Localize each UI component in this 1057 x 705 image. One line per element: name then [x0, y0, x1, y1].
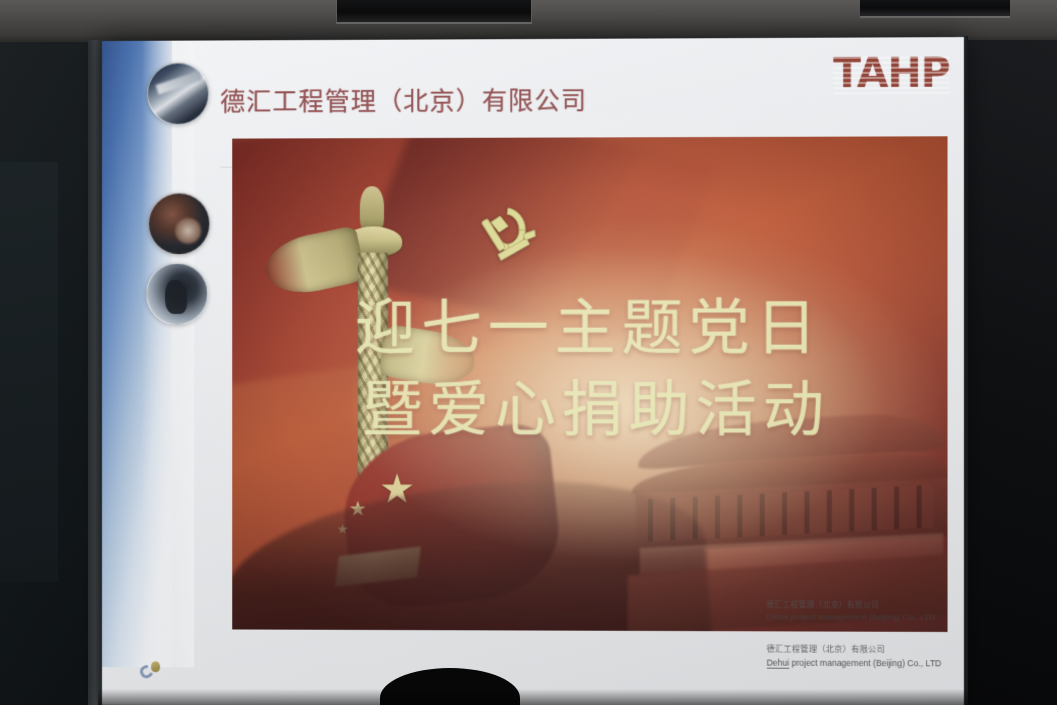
floor-shadow [98, 689, 968, 705]
footer-credit-english: Dehui project management (Beijing) Co., … [767, 658, 942, 669]
poster-credit: 德汇工程管理（北京）有限公司 Dehui project management … [766, 599, 935, 622]
slide-band-fade [142, 41, 194, 668]
tiananmen-gate-icon [618, 413, 948, 626]
poster-image: 迎七一主题党日 暨爱心捐助活动 德汇工程管理（北京）有限公司 Dehui pro… [232, 136, 947, 632]
slide-header: 德汇工程管理（北京）有限公司 [220, 80, 929, 135]
projected-slide[interactable]: 德汇工程管理（北京）有限公司 TAHP [102, 37, 964, 705]
ceiling-vent-right [860, 0, 1010, 18]
thumbnail-engineer-portrait-icon [148, 193, 210, 255]
footer-credit-english-rest: project management (Beijing) Co., LTD [789, 658, 941, 669]
footer-credit-chinese: 德汇工程管理（北京）有限公司 [767, 643, 942, 655]
ceiling-vent-left [336, 0, 532, 24]
wall-left [0, 42, 98, 705]
cpc-emblem-icon [478, 200, 545, 271]
thumbnail-worksite-figure-icon [146, 263, 208, 325]
conference-room-scene: 德汇工程管理（北京）有限公司 TAHP [0, 0, 1057, 705]
tahp-logo: TAHP [833, 53, 949, 94]
thumbnail-construction-steel-icon [147, 63, 209, 125]
tahp-logo-text: TAHP [833, 50, 949, 97]
poster-credit-english: Dehui project management (Beijing) Co., … [766, 612, 935, 622]
logo-drop-shape [151, 661, 160, 672]
slide-corner-logo-icon [140, 661, 162, 679]
poster-credit-chinese: 德汇工程管理（北京）有限公司 [766, 599, 935, 611]
page-title: 德汇工程管理（北京）有限公司 [220, 80, 929, 119]
wall-right [963, 40, 1057, 705]
wall-left-panel [0, 162, 58, 582]
slide-footer-credit: 德汇工程管理（北京）有限公司 Dehui project management … [767, 643, 942, 668]
footer-credit-english-underlined: Dehui [767, 658, 790, 669]
